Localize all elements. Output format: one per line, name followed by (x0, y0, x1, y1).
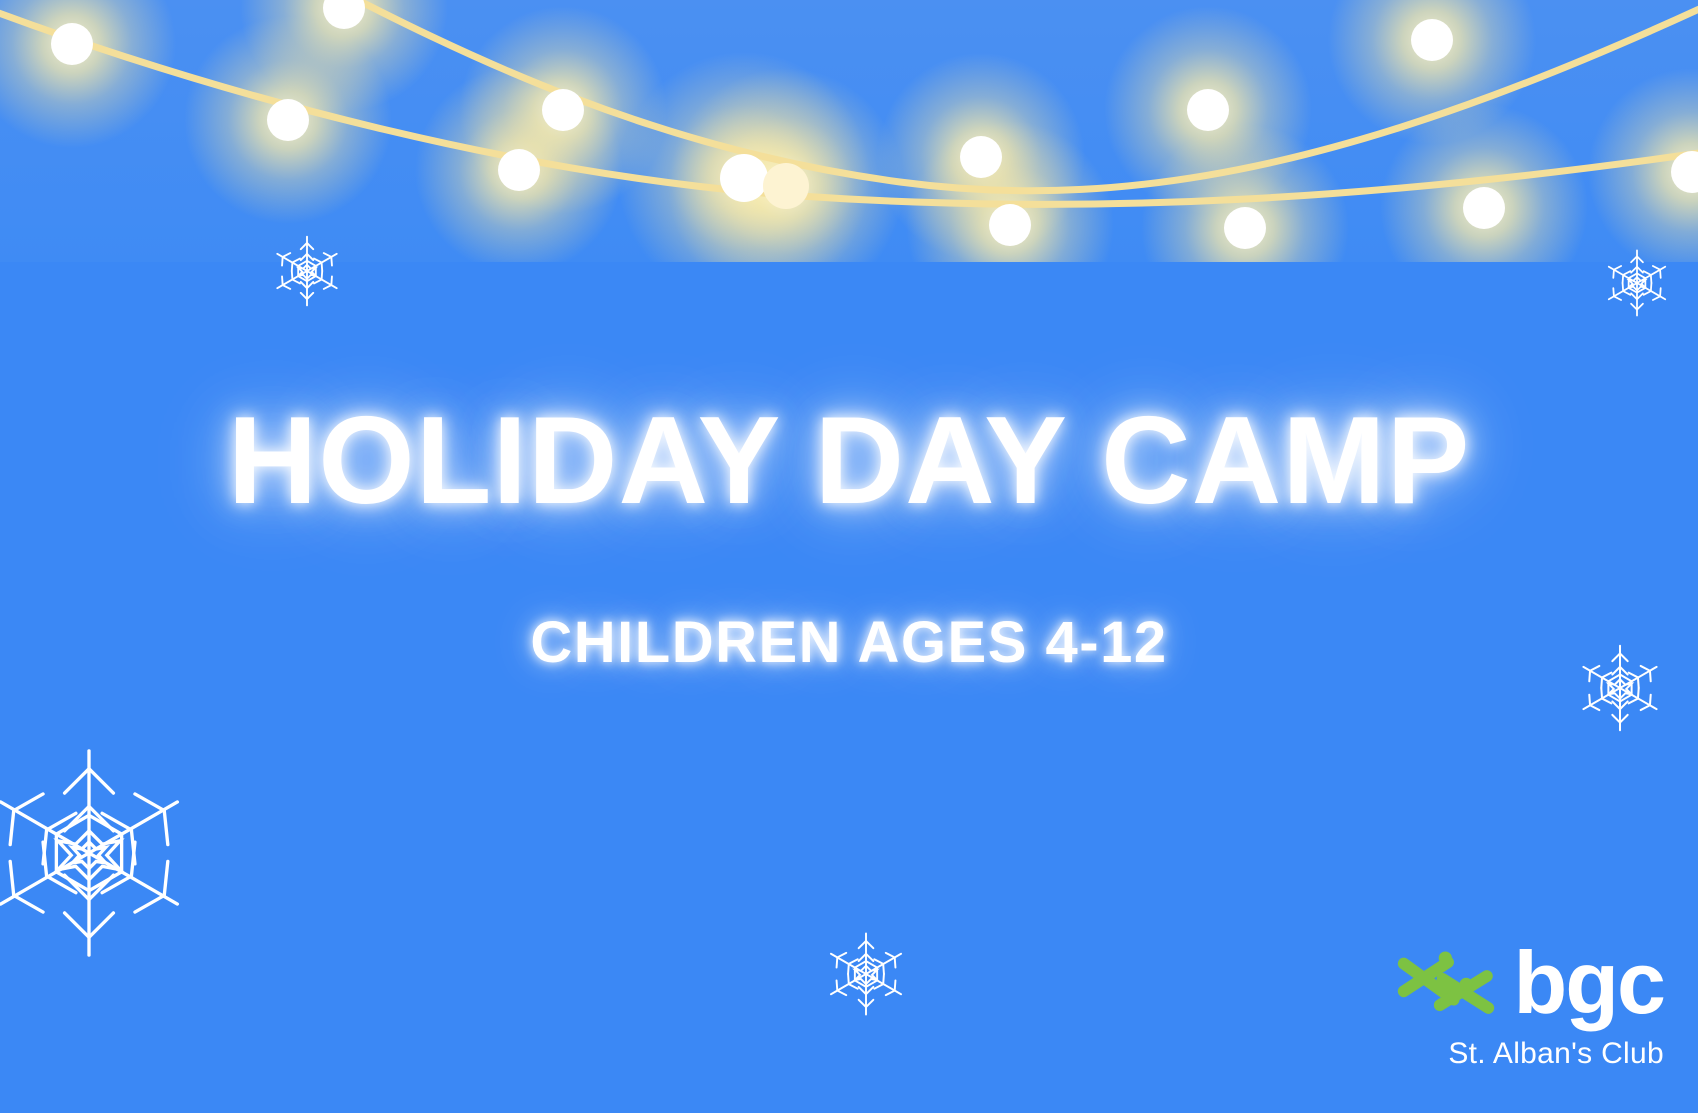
headline-block: HOLIDAY DAY CAMP CHILDREN AGES 4-12 (0, 396, 1698, 676)
holiday-day-camp-poster: HOLIDAY DAY CAMP CHILDREN AGES 4-12 bgc (0, 0, 1698, 1113)
bgc-wordmark: bgc (1514, 947, 1664, 1019)
snowflake-bottom-left-large (0, 742, 200, 964)
string-lights-band (0, 0, 1698, 262)
club-name: St. Alban's Club (1334, 1037, 1664, 1071)
page-subtitle: CHILDREN AGES 4-12 (0, 527, 1698, 676)
bgc-logo: bgc St. Alban's Club (1334, 947, 1664, 1071)
logo-lockup: bgc (1334, 947, 1664, 1019)
snowflake-bottom-center (820, 928, 912, 1020)
page-title: HOLIDAY DAY CAMP (0, 396, 1698, 527)
bgc-people-mark-icon (1394, 948, 1498, 1018)
